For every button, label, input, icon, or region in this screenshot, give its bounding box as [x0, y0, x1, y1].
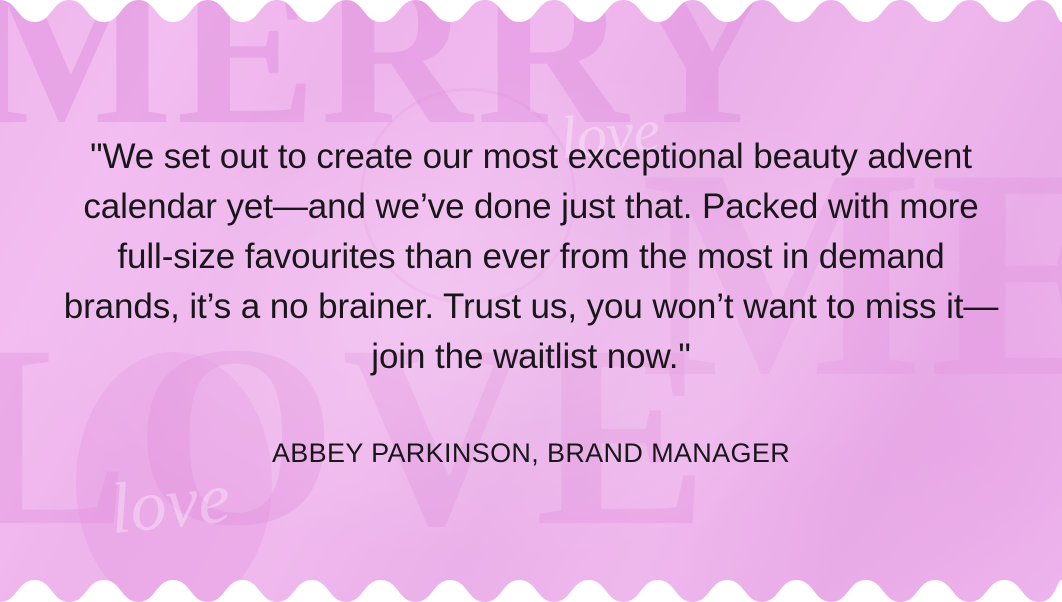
quote-text: "We set out to create our most exception… [55, 132, 1007, 382]
banner-content: "We set out to create our most exception… [0, 0, 1062, 602]
quote-attribution: ABBEY PARKINSON, BRAND MANAGER [272, 437, 790, 469]
quote-banner: MERRY MERRY LOVE love love "We set out t… [0, 0, 1062, 602]
